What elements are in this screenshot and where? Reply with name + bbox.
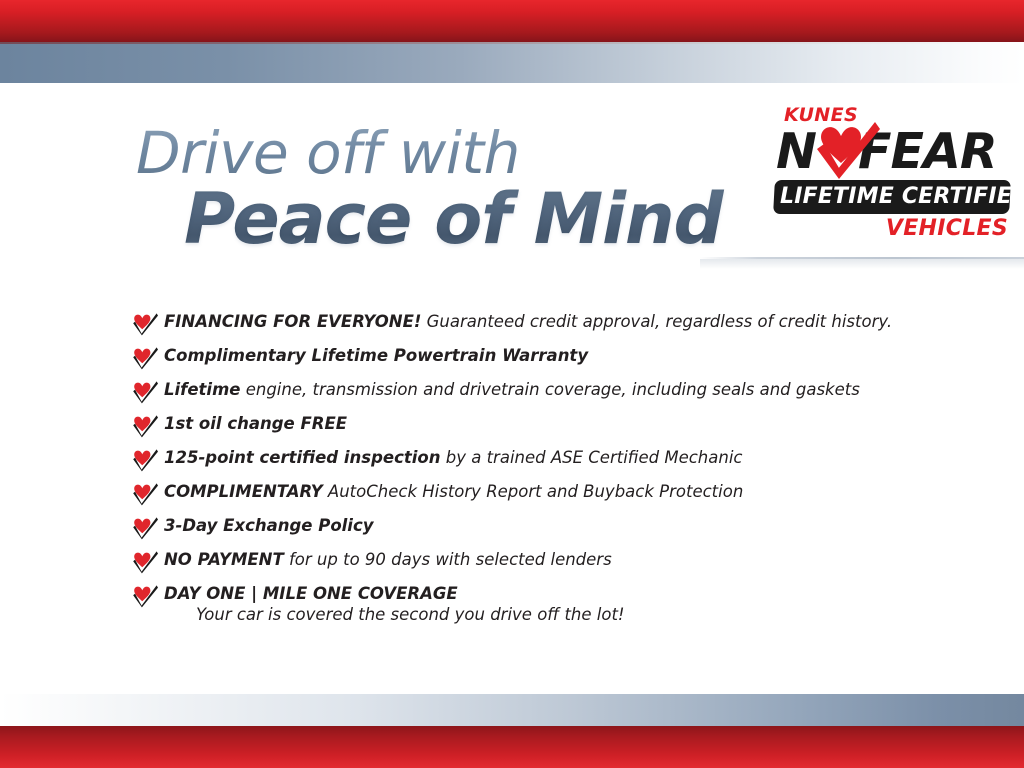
heart-check-icon (132, 380, 158, 404)
bottom-gray-band (0, 694, 1024, 726)
benefit-detail: by a trained ASE Certified Mechanic (441, 448, 743, 467)
headline-block: Drive off with Peace of Mind (136, 124, 736, 255)
benefit-item: FINANCING FOR EVERYONE! Guaranteed credi… (132, 310, 932, 336)
benefit-headline: Lifetime (164, 380, 240, 399)
benefit-detail: engine, transmission and drivetrain cove… (240, 380, 859, 399)
benefit-item: DAY ONE | MILE ONE COVERAGEYour car is c… (132, 582, 932, 626)
top-red-band (0, 0, 1024, 42)
benefit-text: Complimentary Lifetime Powertrain Warran… (164, 344, 588, 368)
benefit-text: COMPLIMENTARY AutoCheck History Report a… (164, 480, 743, 504)
heart-check-icon (132, 346, 158, 370)
benefit-text: Lifetime engine, transmission and drivet… (164, 378, 860, 402)
top-gray-band (0, 42, 1024, 83)
benefit-item: COMPLIMENTARY AutoCheck History Report a… (132, 480, 932, 506)
bottom-red-band (0, 726, 1024, 768)
benefit-detail: AutoCheck History Report and Buyback Pro… (323, 482, 744, 501)
benefit-text: FINANCING FOR EVERYONE! Guaranteed credi… (164, 310, 892, 334)
benefit-item: Lifetime engine, transmission and drivet… (132, 378, 932, 404)
benefit-text: DAY ONE | MILE ONE COVERAGE (164, 582, 625, 606)
benefit-headline: DAY ONE | MILE ONE COVERAGE (164, 584, 458, 603)
benefit-headline: 125-point certified inspection (164, 448, 441, 467)
heart-check-mark-icon (814, 120, 880, 180)
benefit-headline: NO PAYMENT (164, 550, 284, 569)
benefit-headline: COMPLIMENTARY (164, 482, 323, 501)
benefit-item: 3-Day Exchange Policy (132, 514, 932, 540)
benefit-headline: 1st oil change FREE (164, 414, 347, 433)
benefit-text: 1st oil change FREE (164, 412, 347, 436)
heart-check-icon (132, 584, 158, 608)
benefit-detail: Guaranteed credit approval, regardless o… (421, 312, 892, 331)
headline-divider-shadow (700, 259, 1024, 269)
benefit-item: 125-point certified inspection by a trai… (132, 446, 932, 472)
logo-vehicles-label: VEHICLES (886, 216, 1008, 241)
benefit-text: 125-point certified inspection by a trai… (164, 446, 742, 470)
logo-no-fear-text: NFEAR (776, 123, 997, 180)
benefit-item: NO PAYMENT for up to 90 days with select… (132, 548, 932, 574)
logo-letter-n: N (776, 123, 816, 180)
heart-check-icon (132, 414, 158, 438)
benefit-detail: for up to 90 days with selected lenders (284, 550, 612, 569)
headline-line-1: Drive off with (136, 124, 736, 182)
heart-check-icon (132, 448, 158, 472)
heart-check-icon (132, 482, 158, 506)
benefit-headline: FINANCING FOR EVERYONE! (164, 312, 421, 331)
benefit-item: 1st oil change FREE (132, 412, 932, 438)
benefit-text: 3-Day Exchange Policy (164, 514, 374, 538)
benefit-headline: Complimentary Lifetime Powertrain Warran… (164, 346, 588, 365)
benefit-item: Complimentary Lifetime Powertrain Warran… (132, 344, 932, 370)
kunes-no-fear-logo: KUNES NFEAR LIFETIME CERTIFIED VEHICLES (768, 104, 1014, 244)
benefit-headline: 3-Day Exchange Policy (164, 516, 374, 535)
logo-certified-label: LIFETIME CERTIFIED (780, 181, 1008, 213)
heart-check-icon (132, 550, 158, 574)
benefit-text: NO PAYMENT for up to 90 days with select… (164, 548, 612, 572)
benefits-list: FINANCING FOR EVERYONE! Guaranteed credi… (132, 310, 932, 634)
promo-poster: Drive off with Peace of Mind KUNES NFEAR… (0, 0, 1024, 768)
benefit-subtext: Your car is covered the second you drive… (164, 604, 625, 626)
headline-line-2: Peace of Mind (136, 184, 736, 255)
heart-check-icon (132, 516, 158, 540)
heart-check-icon (132, 312, 158, 336)
